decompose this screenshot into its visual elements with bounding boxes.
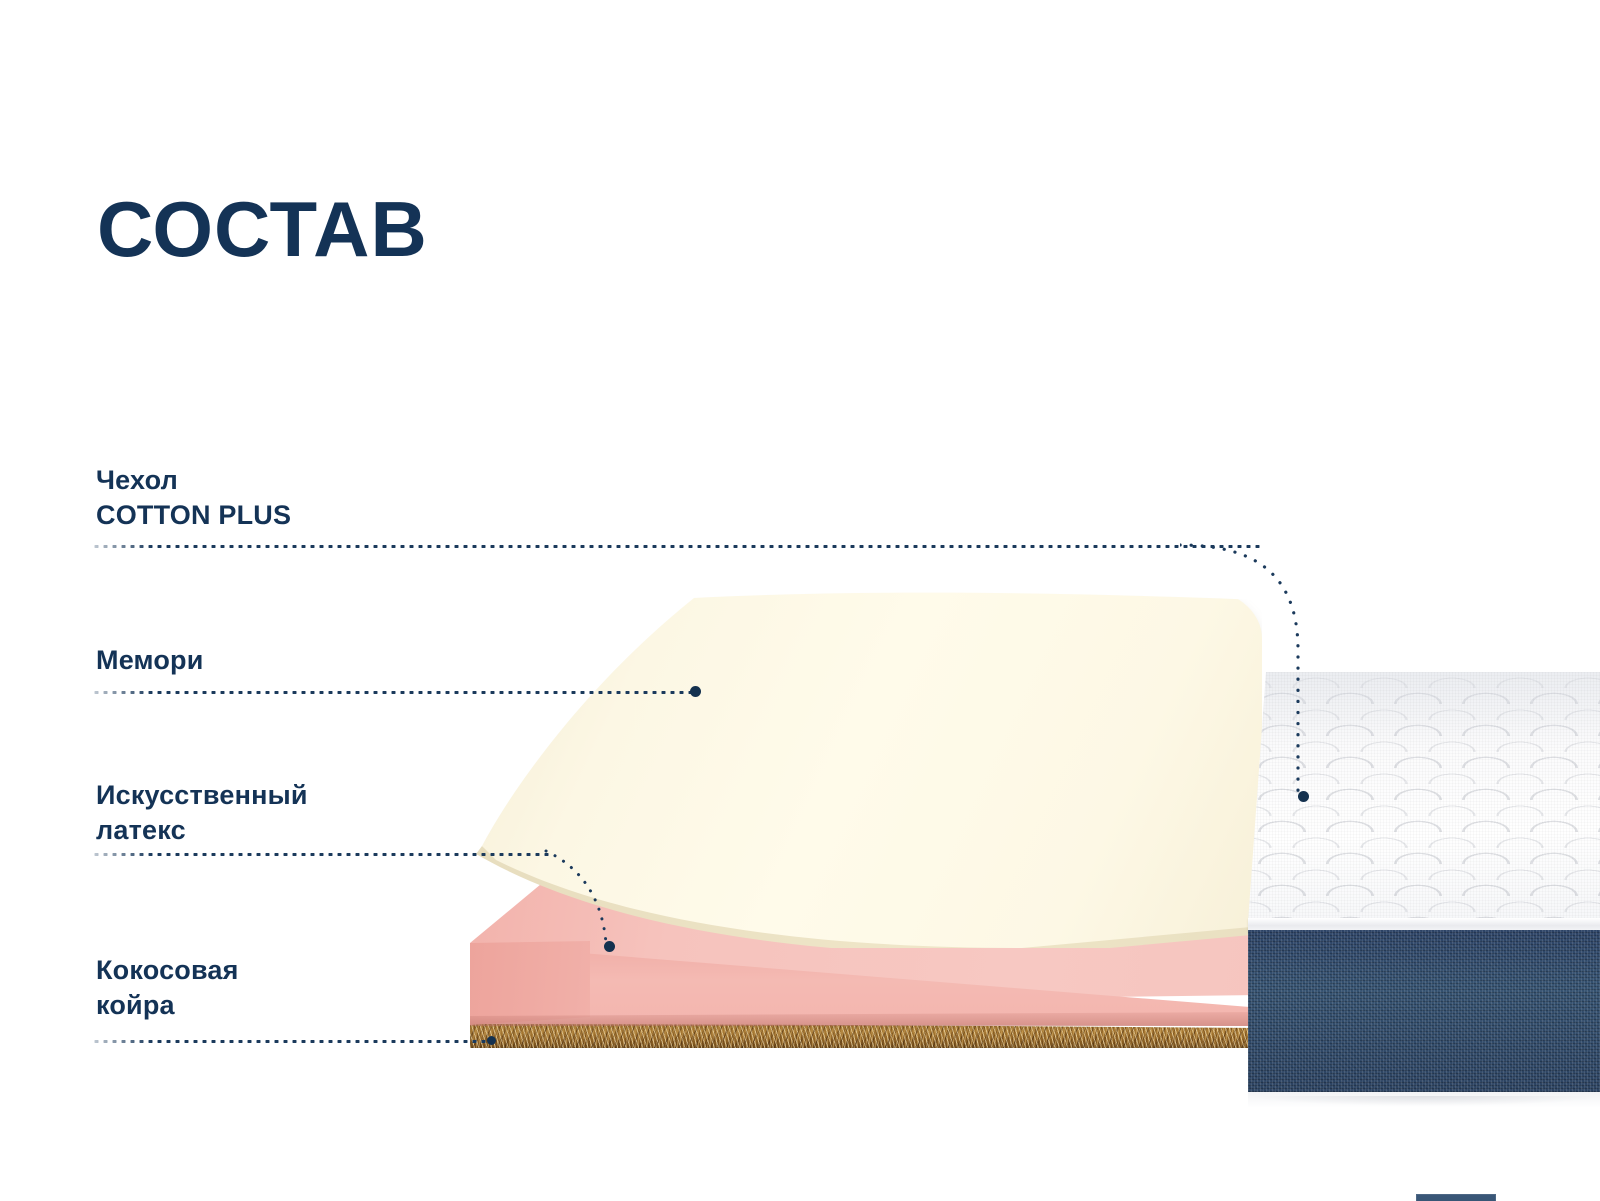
layer-cotton-plus-cover: DIMAX ТАКОЙ ДОЛГОЖДАННЫЙ [1248,672,1600,1102]
leader-endpoint-coir [487,1036,496,1045]
label-memory: Мемори [96,643,204,678]
mattress-illustration: DIMAX ТАКОЙ ДОЛГОЖДАННЫЙ [0,0,1600,1201]
cover-ground-shadow [1250,1096,1600,1106]
composition-infographic: СОСТАВ DIMAX ТАКОЙ ДОЛГОЖДАННЫЙ [0,0,1600,1201]
label-cover: Чехол COTTON PLUS [96,463,291,533]
leader-endpoint-memory [690,686,701,697]
dimax-brand-label: DIMAX ТАКОЙ ДОЛГОЖДАННЫЙ [1416,1194,1496,1201]
label-latex: Искусственный латекс [96,778,308,848]
leader-endpoint-cover [1298,791,1309,802]
leader-line-cover [92,545,1264,548]
leader-line-coir [92,1040,496,1043]
leader-line-latex [92,853,552,856]
leader-line-memory [92,691,696,694]
cover-side-panel: DIMAX ТАКОЙ ДОЛГОЖДАННЫЙ [1248,930,1600,1095]
leader-endpoint-latex [604,941,615,952]
label-coir: Кокосовая койра [96,953,239,1023]
layer-memory-foam [462,588,1262,948]
memory-foam-surface [462,588,1262,948]
